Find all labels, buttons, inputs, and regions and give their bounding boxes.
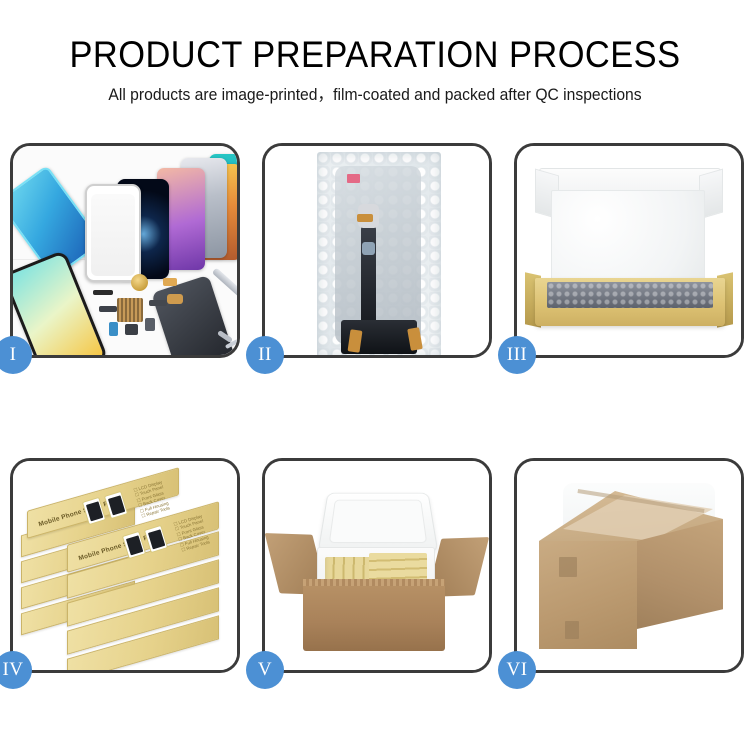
back-cover-icon (151, 275, 235, 355)
part-icon (149, 300, 167, 306)
process-step-panel-6[interactable]: VI (514, 458, 744, 673)
step-badge-6: VI (498, 651, 536, 689)
bubble-wrapped-contents-icon (547, 282, 713, 308)
page-title: PRODUCT PREPARATION PROCESS (26, 0, 724, 77)
retail-box-stack-scene: Mobile Phone Spare Parts Mobile Phone Sp… (13, 461, 237, 670)
process-step-panel-4[interactable]: Mobile Phone Spare Parts Mobile Phone Sp… (10, 458, 240, 673)
foam-sheet-icon (551, 190, 705, 286)
tweezers-icon (212, 268, 237, 300)
step-5-image (265, 461, 489, 670)
process-step-grid: I II (10, 143, 745, 673)
flex-connector-icon (167, 294, 183, 304)
process-step-panel-2[interactable]: II (262, 143, 492, 358)
step-badge-1: I (0, 336, 32, 374)
part-icon (93, 290, 113, 295)
shipping-carton-icon (303, 579, 445, 651)
foam-lid-open-icon (318, 493, 439, 553)
step-4-image: Mobile Phone Spare Parts Mobile Phone Sp… (13, 461, 237, 670)
carton-packing-scene (265, 461, 489, 670)
carton-tab-icon (559, 557, 577, 577)
step-6-image (517, 461, 741, 670)
sealed-carton-scene (517, 461, 741, 670)
step-1-image (13, 146, 237, 355)
process-step-panel-1[interactable]: I (10, 143, 240, 358)
yellow-inner-box-icon (535, 278, 725, 326)
part-icon (163, 278, 177, 286)
bubble-wrap-bag-icon (317, 152, 441, 355)
part-icon (145, 318, 155, 331)
speaker-coil-icon (131, 274, 148, 291)
page-subtitle: All products are image-printed，film-coat… (19, 77, 732, 105)
step-badge-5: V (246, 651, 284, 689)
phone-parts-scene (13, 146, 237, 355)
part-icon (109, 322, 118, 336)
chip-grid-icon (117, 298, 143, 322)
process-step-panel-5[interactable]: V (262, 458, 492, 673)
pink-label-icon (347, 174, 360, 183)
part-icon (125, 324, 138, 335)
step-badge-4: IV (0, 651, 32, 689)
process-step-panel-3[interactable]: III (514, 143, 744, 358)
connector-icon (357, 214, 373, 222)
glass-panel-icon (85, 184, 141, 282)
step-2-image (265, 146, 489, 355)
carton-front-face-icon (539, 541, 637, 649)
header: PRODUCT PREPARATION PROCESS All products… (0, 0, 750, 105)
inner-box-scene (517, 146, 741, 355)
step-badge-3: III (498, 336, 536, 374)
product-preparation-infographic: PRODUCT PREPARATION PROCESS All products… (0, 0, 750, 750)
part-icon (99, 306, 117, 312)
step-3-image (517, 146, 741, 355)
bubble-wrap-scene (265, 146, 489, 355)
carton-tab-icon (565, 621, 579, 639)
wrapped-screen-icon (335, 166, 421, 344)
step-badge-2: II (246, 336, 284, 374)
